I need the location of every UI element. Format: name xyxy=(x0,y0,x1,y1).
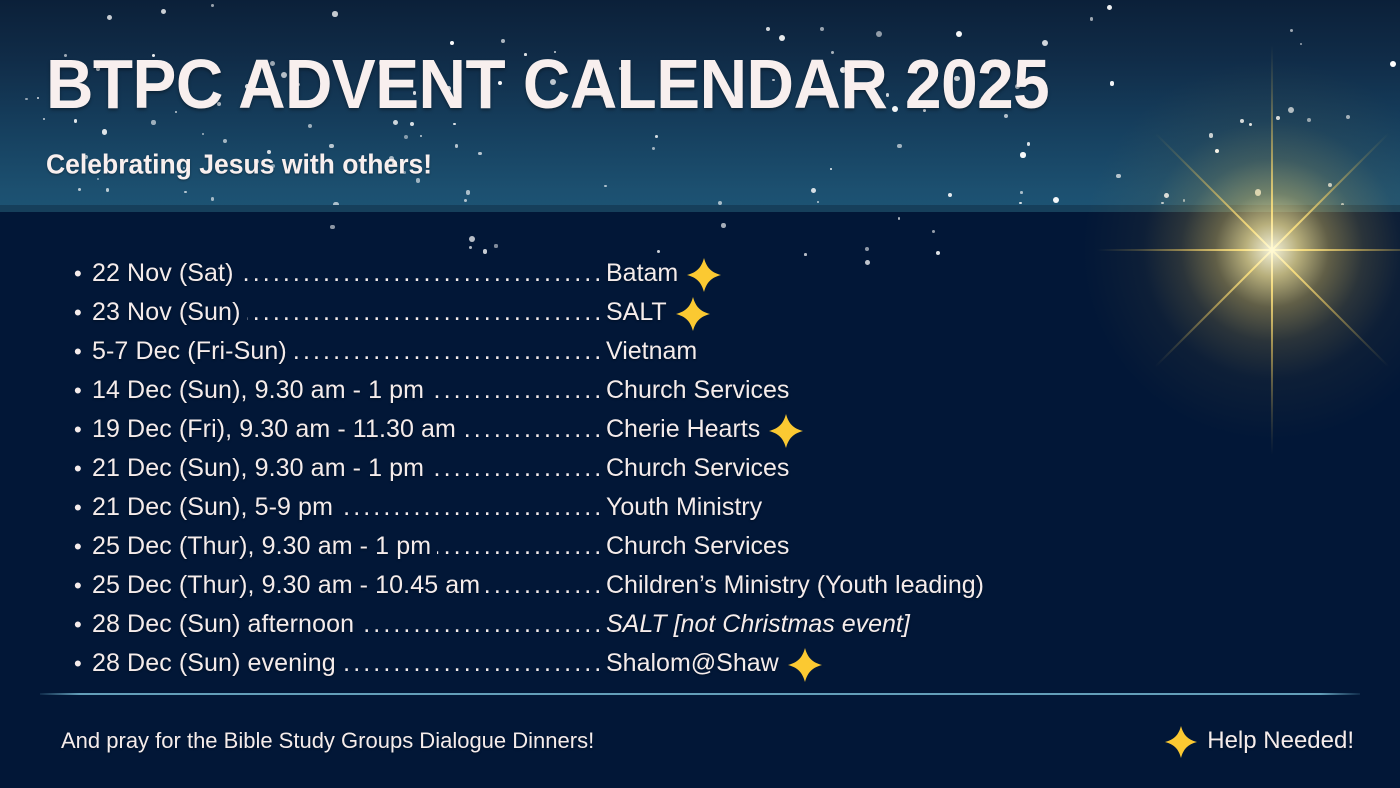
star-dot xyxy=(897,144,902,149)
event-date-cell: ........................................… xyxy=(92,566,606,605)
list-bullet xyxy=(74,644,92,683)
event-date: 21 Dec (Sun), 5-9 pm xyxy=(92,488,339,527)
event-name: Shalom@Shaw xyxy=(606,644,779,683)
star-dot xyxy=(956,31,962,37)
event-name-cell: Batam xyxy=(606,254,1334,293)
star-dot xyxy=(1346,115,1350,119)
star-dot xyxy=(1215,149,1219,153)
star-dot xyxy=(37,97,39,99)
event-name: Youth Ministry xyxy=(606,488,762,527)
star-dot xyxy=(1390,61,1396,67)
event-date-cell: ........................................… xyxy=(92,410,606,449)
star-dot xyxy=(184,191,186,193)
event-row: ........................................… xyxy=(74,644,1334,683)
event-date-cell: ........................................… xyxy=(92,332,606,371)
event-date: 22 Nov (Sat) xyxy=(92,254,240,293)
list-bullet xyxy=(74,566,92,605)
star-dot xyxy=(820,27,824,31)
star-dot xyxy=(655,135,658,138)
event-row: ........................................… xyxy=(74,488,1334,527)
event-date: 19 Dec (Fri), 9.30 am - 11.30 am xyxy=(92,410,462,449)
event-name: Children’s Ministry (Youth leading) xyxy=(606,566,984,605)
star-dot xyxy=(1276,116,1280,120)
event-name-cell: Children’s Ministry (Youth leading) xyxy=(606,566,1334,605)
page-subtitle: Celebrating Jesus with others! xyxy=(46,145,432,183)
star-dot xyxy=(1164,193,1169,198)
event-name: Batam xyxy=(606,254,678,293)
list-bullet xyxy=(74,332,92,371)
list-bullet xyxy=(74,605,92,644)
event-name-cell: Church Services xyxy=(606,371,1334,410)
star-dot xyxy=(1307,118,1311,122)
event-name: Church Services xyxy=(606,527,789,566)
star-dot xyxy=(420,135,423,138)
event-date: 25 Dec (Thur), 9.30 am - 10.45 am xyxy=(92,566,486,605)
star-dot xyxy=(78,188,81,191)
event-row: ........................................… xyxy=(74,332,1334,371)
star-dot xyxy=(25,98,28,101)
star-dot xyxy=(223,139,227,143)
event-name: Church Services xyxy=(606,371,789,410)
star-dot xyxy=(830,168,832,170)
star-dot xyxy=(107,15,112,20)
event-row: ........................................… xyxy=(74,605,1334,644)
event-name-cell: Shalom@Shaw xyxy=(606,644,1334,683)
event-date: 23 Nov (Sun) xyxy=(92,293,247,332)
star-dot xyxy=(1290,29,1293,32)
sparkle-icon xyxy=(676,297,710,331)
star-dot xyxy=(817,201,819,203)
event-name-cell: SALT xyxy=(606,293,1334,332)
star-dot xyxy=(1107,5,1112,10)
star-dot xyxy=(1110,81,1114,85)
star-dot xyxy=(1249,123,1252,126)
footer-legend: Help Needed! xyxy=(1165,725,1354,757)
star-dot xyxy=(464,199,467,202)
star-dot xyxy=(1328,183,1332,187)
event-name: SALT [not Christmas event] xyxy=(606,605,910,644)
event-name: Church Services xyxy=(606,449,789,488)
event-row: ........................................… xyxy=(74,527,1334,566)
star-dot xyxy=(469,246,472,249)
star-dot xyxy=(1300,43,1303,46)
star-dot xyxy=(478,152,481,155)
sparkle-icon xyxy=(1165,726,1197,758)
header-band-base-line xyxy=(0,205,1400,212)
star-dot xyxy=(469,236,475,242)
event-name-cell: Vietnam xyxy=(606,332,1334,371)
star-dot xyxy=(1161,202,1164,205)
star-dot xyxy=(721,223,726,228)
event-name-cell: SALT [not Christmas event] xyxy=(606,605,1334,644)
footer: And pray for the Bible Study Groups Dial… xyxy=(0,712,1400,770)
star-dot xyxy=(1053,197,1059,203)
star-dot xyxy=(102,129,108,135)
sparkle-icon xyxy=(769,414,803,448)
star-dot xyxy=(161,9,166,14)
event-date: 28 Dec (Sun) evening xyxy=(92,644,342,683)
star-dot xyxy=(43,118,45,120)
list-bullet xyxy=(74,410,92,449)
star-dot xyxy=(1020,152,1025,157)
star-dot xyxy=(1020,191,1023,194)
star-dot xyxy=(455,144,459,148)
star-dot xyxy=(652,147,655,150)
star-dot xyxy=(483,249,488,254)
star-dot xyxy=(404,135,408,139)
event-row: ........................................… xyxy=(74,254,1334,293)
star-dot xyxy=(332,11,338,17)
star-dot xyxy=(766,27,770,31)
star-dot xyxy=(932,230,935,233)
page-title: BTPC ADVENT CALENDAR 2025 xyxy=(46,43,1049,128)
star-dot xyxy=(898,217,901,220)
event-date-cell: ........................................… xyxy=(92,254,606,293)
list-bullet xyxy=(74,449,92,488)
list-bullet xyxy=(74,254,92,293)
list-bullet xyxy=(74,527,92,566)
event-date-cell: ........................................… xyxy=(92,488,606,527)
star-dot xyxy=(466,190,471,195)
star-dot xyxy=(876,31,882,37)
event-row: ........................................… xyxy=(74,410,1334,449)
list-bullet xyxy=(74,371,92,410)
star-dot xyxy=(211,4,214,7)
star-dot xyxy=(865,247,869,251)
footer-legend-label: Help Needed! xyxy=(1207,726,1354,756)
event-date: 25 Dec (Thur), 9.30 am - 1 pm xyxy=(92,527,437,566)
star-dot xyxy=(1288,107,1294,113)
star-dot xyxy=(1209,133,1214,138)
star-dot xyxy=(1090,17,1094,21)
event-row: ........................................… xyxy=(74,371,1334,410)
event-name: Cherie Hearts xyxy=(606,410,760,449)
star-dot xyxy=(604,185,607,188)
event-date-cell: ........................................… xyxy=(92,605,606,644)
star-dot xyxy=(811,188,816,193)
footer-note: And pray for the Bible Study Groups Dial… xyxy=(61,726,594,756)
event-date: 28 Dec (Sun) afternoon xyxy=(92,605,360,644)
star-dot xyxy=(330,225,334,229)
event-name: Vietnam xyxy=(606,332,697,371)
event-date-cell: ........................................… xyxy=(92,527,606,566)
event-date-cell: ........................................… xyxy=(92,293,606,332)
event-date: 21 Dec (Sun), 9.30 am - 1 pm xyxy=(92,449,430,488)
event-date-cell: ........................................… xyxy=(92,644,606,683)
star-dot xyxy=(494,244,497,247)
advent-calendar-slide: BTPC ADVENT CALENDAR 2025 Celebrating Je… xyxy=(0,0,1400,788)
event-row: ........................................… xyxy=(74,293,1334,332)
star-dot xyxy=(1019,202,1022,205)
footer-divider xyxy=(40,693,1360,695)
star-dot xyxy=(211,197,214,200)
event-name-cell: Church Services xyxy=(606,527,1334,566)
star-dot xyxy=(1255,189,1261,195)
event-row: ........................................… xyxy=(74,449,1334,488)
event-date: 14 Dec (Sun), 9.30 am - 1 pm xyxy=(92,371,430,410)
sparkle-icon xyxy=(788,648,822,682)
event-date-cell: ........................................… xyxy=(92,449,606,488)
star-dot xyxy=(202,133,205,136)
list-bullet xyxy=(74,293,92,332)
event-name-cell: Church Services xyxy=(606,449,1334,488)
event-list: ........................................… xyxy=(74,254,1334,683)
event-name-cell: Youth Ministry xyxy=(606,488,1334,527)
star-dot xyxy=(106,188,110,192)
sparkle-icon xyxy=(687,258,721,292)
star-dot xyxy=(1116,174,1121,179)
star-dot xyxy=(1183,199,1186,202)
star-dot xyxy=(948,193,952,197)
event-name: SALT xyxy=(606,293,667,332)
event-date: 5-7 Dec (Fri-Sun) xyxy=(92,332,293,371)
star-dot xyxy=(657,250,660,253)
star-dot xyxy=(779,35,785,41)
event-name-cell: Cherie Hearts xyxy=(606,410,1334,449)
star-dot xyxy=(1240,119,1244,123)
event-row: ........................................… xyxy=(74,566,1334,605)
star-dot xyxy=(1027,142,1031,146)
event-date-cell: ........................................… xyxy=(92,371,606,410)
list-bullet xyxy=(74,488,92,527)
